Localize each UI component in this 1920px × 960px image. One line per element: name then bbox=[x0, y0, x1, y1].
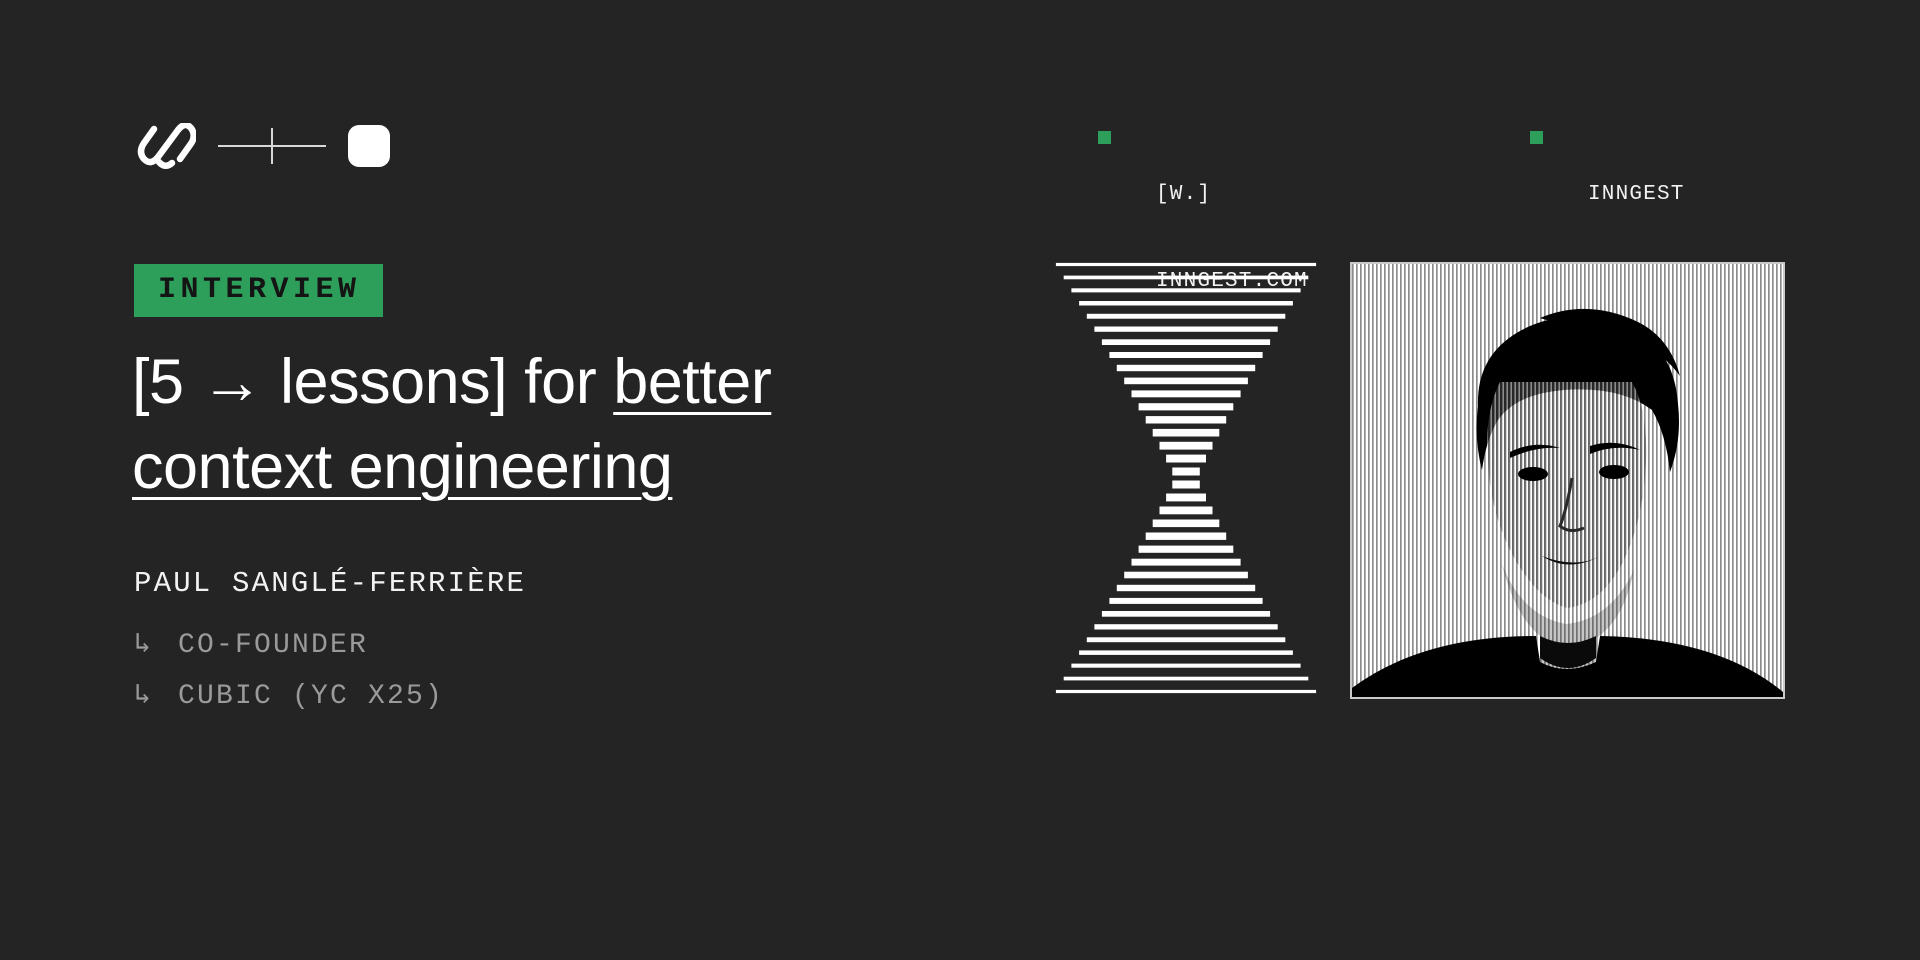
headline-underlined2: context engineering bbox=[132, 432, 672, 502]
headline-part1: [5 → lessons] for bbox=[132, 347, 613, 417]
headline-underlined1: better bbox=[613, 347, 771, 417]
speaker-role-label: CO-FOUNDER bbox=[178, 630, 368, 661]
poster-canvas: [W.] INNGEST.COM INNGEST _ EST....2021 I… bbox=[0, 0, 1920, 960]
arrow-icon: ↳ bbox=[134, 671, 178, 722]
speaker-roles: ↳CO-FOUNDER ↳CUBIC (YC X25) bbox=[134, 620, 444, 722]
meta-website-line1: [W.] bbox=[1156, 180, 1308, 209]
logo-divider-plus bbox=[218, 145, 326, 147]
green-square-marker-2 bbox=[1530, 131, 1543, 144]
speaker-name: PAUL SANGLÉ-FERRIÈRE bbox=[134, 567, 526, 600]
speaker-role-item: ↳CO-FOUNDER bbox=[134, 620, 444, 671]
hourglass-bars-graphic bbox=[1046, 258, 1326, 698]
portrait-svg bbox=[1352, 264, 1783, 697]
speaker-portrait-halftone bbox=[1350, 262, 1785, 699]
speaker-role-item: ↳CUBIC (YC X25) bbox=[134, 671, 444, 722]
brand-logo-group[interactable] bbox=[134, 123, 390, 169]
hourglass-svg bbox=[1046, 258, 1326, 698]
inngest-logo-icon bbox=[134, 123, 196, 169]
meta-established-line1: INNGEST bbox=[1588, 180, 1767, 209]
green-square-marker-1 bbox=[1098, 131, 1111, 144]
speaker-role-label: CUBIC (YC X25) bbox=[178, 681, 444, 712]
arrow-icon: ↳ bbox=[134, 620, 178, 671]
header: [W.] INNGEST.COM INNGEST _ EST....2021 bbox=[0, 0, 1920, 230]
category-badge: INTERVIEW bbox=[134, 264, 383, 317]
logo-square-dot bbox=[348, 125, 390, 167]
page-title: [5 → lessons] for bettercontext engineer… bbox=[132, 340, 1012, 510]
